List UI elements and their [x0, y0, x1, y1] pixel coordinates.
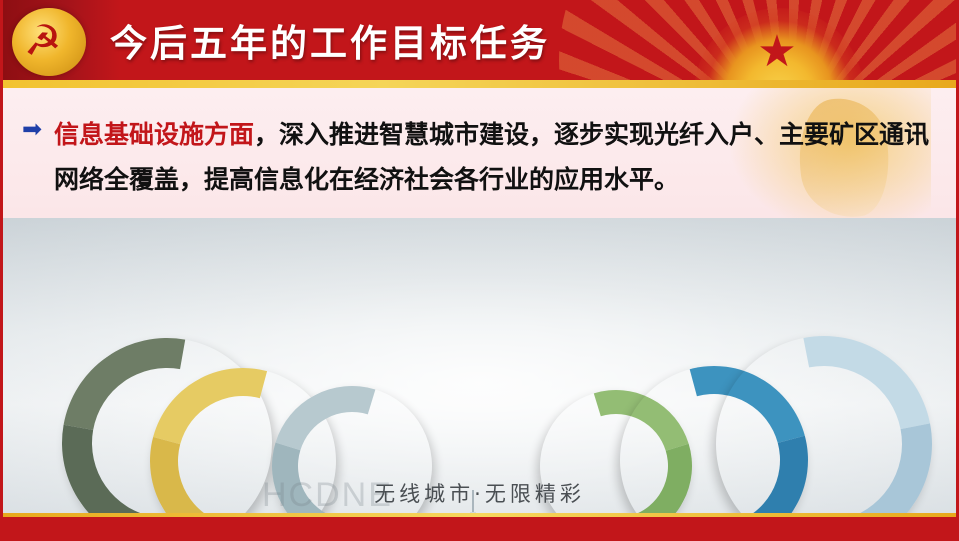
arrow-right-icon: ➡: [22, 118, 48, 140]
slide-header: ★ ☭ 今后五年的工作目标任务: [0, 0, 959, 88]
slide-footer: [0, 517, 959, 541]
slide: ★ ☭ 今后五年的工作目标任务 ➡ 信息基础设施方面，深入推进智慧城市建设，逐步…: [0, 0, 959, 541]
footer-gold-line: [0, 513, 959, 517]
hammer-and-sickle-icon: ☭: [12, 8, 98, 80]
figure-image: HCDNE 无线城市·无限精彩: [0, 218, 959, 519]
content-area: ➡ 信息基础设施方面，深入推进智慧城市建设，逐步实现光纤入户、主要矿区通讯网络全…: [0, 88, 959, 218]
header-gold-ribbon: [0, 80, 959, 88]
figure-caption: 无线城市·无限精彩: [0, 478, 959, 508]
emblem-glyph: ☭: [24, 18, 62, 64]
page-title: 今后五年的工作目标任务: [110, 16, 550, 72]
left-edge-border: [0, 0, 3, 541]
paragraph-highlight: 信息基础设施方面: [54, 120, 254, 149]
body-paragraph: 信息基础设施方面，深入推进智慧城市建设，逐步实现光纤入户、主要矿区通讯网络全覆盖…: [54, 112, 938, 202]
five-pointed-star-icon: ★: [755, 30, 799, 74]
